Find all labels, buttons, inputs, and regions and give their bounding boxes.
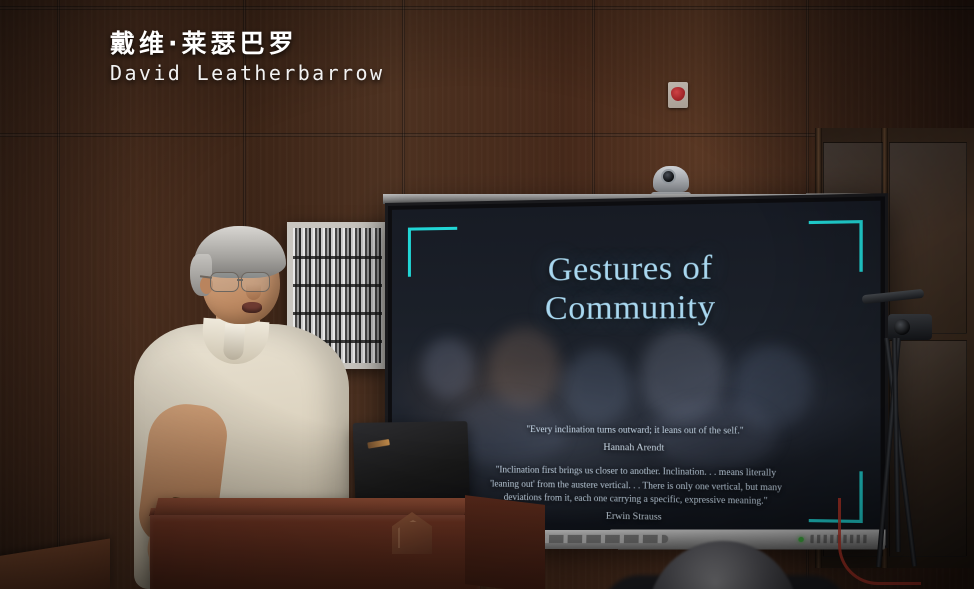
presenter-mouth [242, 302, 262, 313]
wall-panel-seam [402, 0, 405, 215]
camera-lens-icon [894, 319, 910, 335]
power-led-indicator [798, 537, 804, 542]
presenter-name-overlay: 戴维·莱瑟巴罗 David Leatherbarrow [110, 30, 384, 84]
presenter-nose [246, 284, 261, 300]
slide-title-line-2: Community [392, 287, 881, 329]
lecture-photograph: Gestures of Community "Every inclination… [0, 0, 974, 589]
wall-panel-seam [57, 0, 60, 589]
laptop-brand-badge [367, 439, 390, 449]
presenter-name-chinese: 戴维·莱瑟巴罗 [110, 30, 384, 58]
red-emergency-call-point-icon [668, 82, 688, 108]
tripod-pan-handle [862, 289, 925, 304]
wall-trim-band [0, 6, 974, 10]
wall-panel-seam [592, 0, 595, 200]
camera-lens-icon [661, 169, 676, 184]
slide-title: Gestures of Community [392, 247, 881, 329]
quote-text: "Every inclination turns outward; it lea… [422, 422, 856, 439]
red-power-cable [838, 498, 921, 585]
slide-title-line-1: Gestures of [392, 247, 881, 291]
presenter-name-english: David Leatherbarrow [110, 62, 384, 84]
slide-quote-arendt: "Every inclination turns outward; it lea… [422, 422, 856, 457]
eyeglasses-left-lens [210, 272, 239, 292]
slide-background-figure [422, 338, 474, 399]
slide-background-figure [563, 349, 632, 425]
eyeglasses-bridge [237, 279, 243, 281]
podium-side-panel [465, 495, 545, 589]
